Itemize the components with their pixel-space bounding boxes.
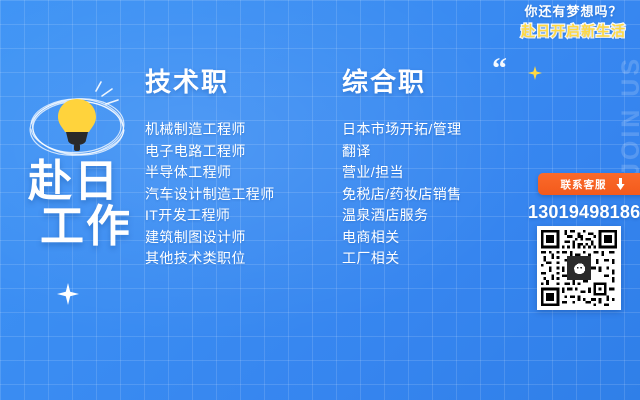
star-icon <box>528 66 542 80</box>
page-title-line-2: 工作 <box>40 205 132 250</box>
list-item[interactable]: 半导体工程师 <box>145 162 275 184</box>
list-item[interactable]: 电子电路工程师 <box>145 141 275 163</box>
list-item[interactable]: 汽车设计制造工程师 <box>145 184 275 206</box>
column-general: 综合职 日本市场开拓/管理 翻译 营业/担当 免税店/药妆店销售 温泉酒店服务 … <box>342 62 462 270</box>
list-item[interactable]: 免税店/药妆店销售 <box>342 184 462 206</box>
contact-support-label: 联系客服 <box>561 177 607 192</box>
column-technical-title: 技术职 <box>145 62 275 99</box>
arrow-down-icon <box>615 178 626 190</box>
sparkle-icon <box>57 283 79 305</box>
qr-code[interactable] <box>537 226 621 310</box>
list-item[interactable]: IT开发工程师 <box>145 205 275 227</box>
column-general-list: 日本市场开拓/管理 翻译 营业/担当 免税店/药妆店销售 温泉酒店服务 电商相关… <box>342 119 462 270</box>
list-item[interactable]: 建筑制图设计师 <box>145 227 275 249</box>
list-item[interactable]: 翻译 <box>342 141 462 163</box>
column-general-title: 综合职 <box>342 62 462 99</box>
page-title: 赴日 工作 <box>28 160 132 250</box>
list-item[interactable]: 电商相关 <box>342 227 462 249</box>
list-item[interactable]: 其他技术类职位 <box>145 248 275 270</box>
poster-canvas: JOIN US 你还有梦想吗？ 赴日开启新生活 “ <box>0 0 640 400</box>
page-title-line-1: 赴日 <box>28 160 132 205</box>
join-us-watermark: JOIN US <box>617 56 640 177</box>
list-item[interactable]: 营业/担当 <box>342 162 462 184</box>
contact-support-button[interactable]: 联系客服 <box>538 173 640 195</box>
slogan-line-1: 你还有梦想吗？ <box>521 5 626 18</box>
phone-number[interactable]: 13019498186 <box>528 202 628 223</box>
column-technical: 技术职 机械制造工程师 电子电路工程师 半导体工程师 汽车设计制造工程师 IT开… <box>145 62 275 270</box>
list-item[interactable]: 机械制造工程师 <box>145 119 275 141</box>
slogan-line-2: 赴日开启新生活 <box>521 24 626 38</box>
list-item[interactable]: 日本市场开拓/管理 <box>342 119 462 141</box>
slogan-block: 你还有梦想吗？ 赴日开启新生活 <box>521 5 626 38</box>
column-technical-list: 机械制造工程师 电子电路工程师 半导体工程师 汽车设计制造工程师 IT开发工程师… <box>145 119 275 270</box>
list-item[interactable]: 工厂相关 <box>342 248 462 270</box>
quote-mark: “ <box>492 58 507 79</box>
list-item[interactable]: 温泉酒店服务 <box>342 205 462 227</box>
